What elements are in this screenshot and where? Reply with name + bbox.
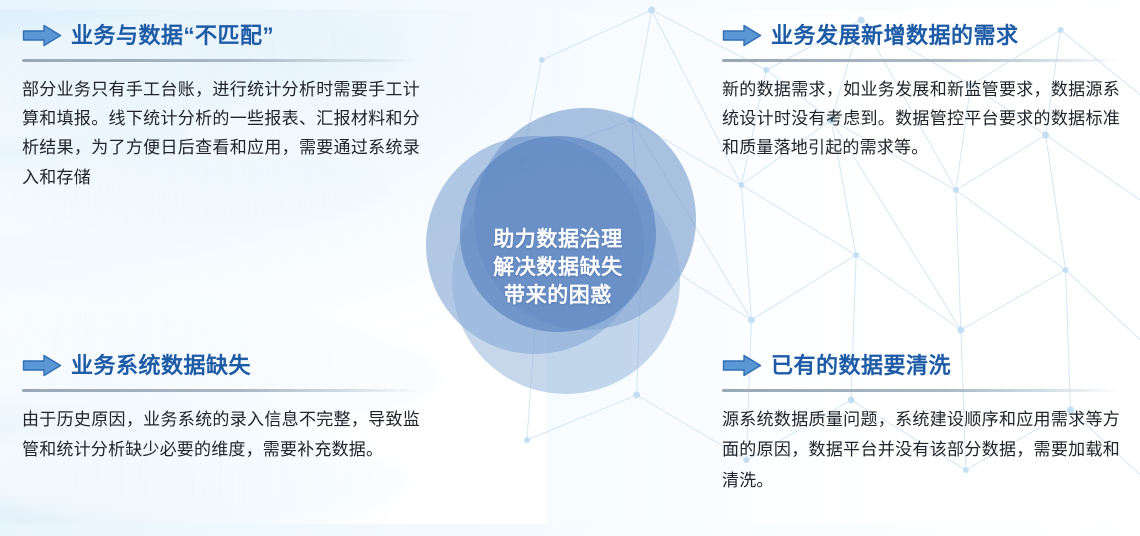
center-caption-line-1: 助力数据治理	[408, 226, 708, 254]
quadrant-top-right-divider	[722, 59, 1120, 62]
arrow-right-icon	[722, 354, 762, 377]
center-caption-line-2: 解决数据缺失	[408, 254, 708, 282]
quadrant-bottom-right-header: 已有的数据要清洗	[722, 348, 1120, 382]
arrow-right-icon	[22, 24, 62, 47]
quadrant-top-left-header: 业务与数据“不匹配”	[22, 18, 420, 52]
quadrant-top-left-title: 业务与数据“不匹配”	[71, 25, 274, 47]
quadrant-top-right: 业务发展新增数据的需求 新的数据需求，如业务发展和新监管要求，数据源系统设计时没…	[722, 18, 1120, 163]
quadrant-bottom-left-divider	[22, 389, 420, 392]
quadrant-top-right-body: 新的数据需求，如业务发展和新监管要求，数据源系统设计时没有考虑到。数据管控平台要…	[722, 75, 1120, 163]
arrow-right-icon	[722, 24, 762, 47]
quadrant-top-left-body: 部分业务只有手工台账，进行统计分析时需要手工计算和填报。线下统计分析的一些报表、…	[22, 75, 420, 192]
quadrant-bottom-left-header: 业务系统数据缺失	[22, 348, 420, 382]
center-caption: 助力数据治理 解决数据缺失 带来的困惑	[408, 226, 708, 310]
quadrant-top-left: 业务与数据“不匹配” 部分业务只有手工台账，进行统计分析时需要手工计算和填报。线…	[22, 18, 420, 192]
quadrant-bottom-left: 业务系统数据缺失 由于历史原因，业务系统的录入信息不完整，导致监管和统计分析缺少…	[22, 348, 420, 466]
quadrant-top-left-divider	[22, 59, 420, 62]
quadrant-top-right-header: 业务发展新增数据的需求	[722, 18, 1120, 52]
quadrant-bottom-left-body: 由于历史原因，业务系统的录入信息不完整，导致监管和统计分析缺少必要的维度，需要补…	[22, 405, 420, 466]
center-caption-line-3: 带来的困惑	[408, 282, 708, 310]
center-circles-graphic: 助力数据治理 解决数据缺失 带来的困惑	[408, 96, 708, 396]
quadrant-bottom-right-body: 源系统数据质量问题，系统建设顺序和应用需求等方面的原因，数据平台并没有该部分数据…	[722, 405, 1120, 496]
arrow-right-icon	[22, 354, 62, 377]
quadrant-top-right-title: 业务发展新增数据的需求	[771, 25, 1019, 47]
quadrant-bottom-right: 已有的数据要清洗 源系统数据质量问题，系统建设顺序和应用需求等方面的原因，数据平…	[722, 348, 1120, 496]
quadrant-bottom-right-title: 已有的数据要清洗	[771, 355, 951, 377]
quadrant-bottom-left-title: 业务系统数据缺失	[71, 355, 251, 377]
quadrant-bottom-right-divider	[722, 389, 1120, 392]
